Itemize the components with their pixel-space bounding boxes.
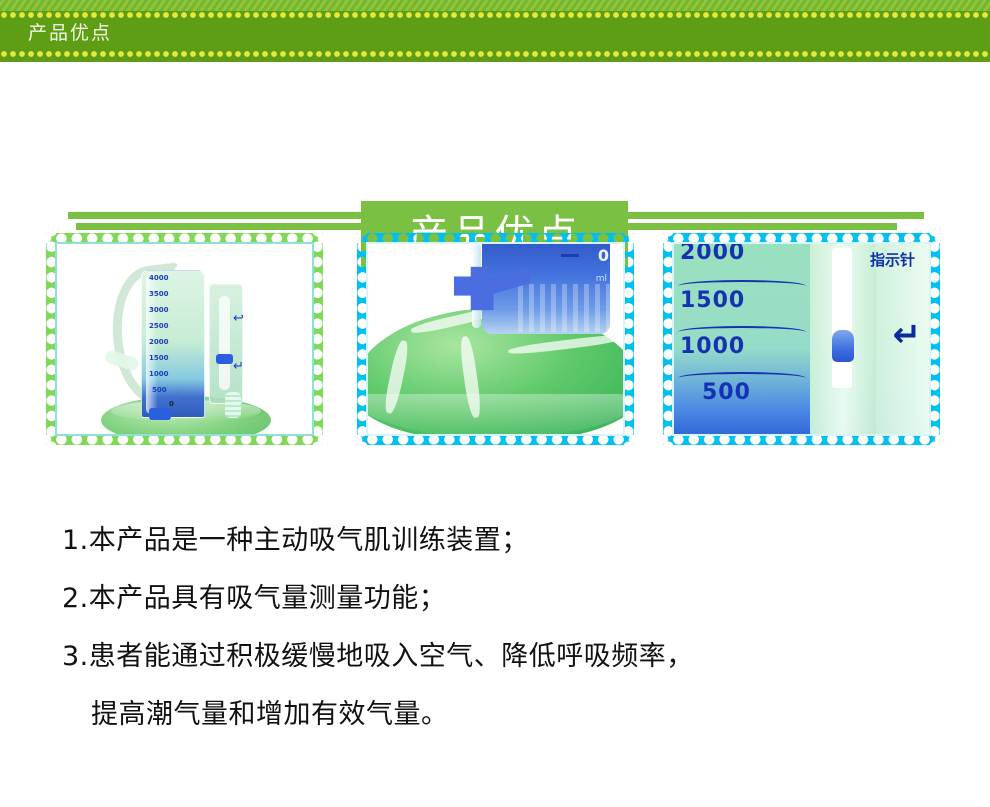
product-photo-scale-closeup: 2000 1500 1000 500 指示针 ↵ [674,244,929,434]
scale-tick: 3500 [149,290,168,298]
product-image-frame-base-closeup[interactable]: 0 ml [357,233,634,445]
advantage-item-continuation: 提高潮气量和增加有效气量。 [62,686,942,744]
arrow-down-icon: ↵ [233,362,244,372]
scale-tick: 3000 [149,306,168,314]
product-photo-base-closeup: 0 ml [368,244,623,434]
scale-tick: 1000 [149,370,168,378]
advantage-item: 3.患者能通过积极缓慢地吸入空气、降低呼吸频率， [62,628,942,686]
scale-zero-label: 0 [598,246,609,265]
top-banner: 产品优点 [0,0,990,62]
advantages-list: 1.本产品是一种主动吸气肌训练装置； 2.本产品具有吸气量测量功能； 3.患者能… [62,512,942,744]
section-heading: 产品优点 [0,95,990,185]
scale-tick: 500 [152,386,167,394]
product-image-gallery: 4000 3500 3000 2500 2000 1500 1000 500 0… [0,233,990,445]
scale-tick: 2000 [680,244,806,265]
heading-rule-right-lower [627,223,897,230]
indicator-plug [832,330,854,362]
banner-dot-row-top [0,11,990,19]
scale-tick: 1000 [680,334,806,359]
scale-tick: 1500 [149,354,168,362]
product-photo-full-product: 4000 3500 3000 2500 2000 1500 1000 500 0… [57,244,312,434]
spirometer-hose-connector [225,392,241,418]
spirometer-indicator-slot [219,296,230,390]
spirometer-valve [149,408,171,420]
scale-tick: 1500 [680,288,806,313]
product-image-frame-full-product[interactable]: 4000 3500 3000 2500 2000 1500 1000 500 0… [46,233,323,445]
scale-tick: 500 [702,380,828,405]
indicator-needle-label: 指示针 [870,250,915,270]
banner-title: 产品优点 [28,22,112,44]
arrow-up-icon: ↩ [233,314,244,324]
curved-arrow-icon: ↵ [893,320,922,350]
spirometer-indicator-plug [216,354,233,364]
heading-rule-right-upper [627,212,924,219]
scale-tick: 2000 [149,338,168,346]
product-image-frame-scale-closeup[interactable]: 2000 1500 1000 500 指示针 ↵ [663,233,940,445]
scale-tick: 0 [169,400,174,408]
unit-label: ml [596,274,607,284]
base-rim-highlight [368,394,623,434]
banner-dot-row-bottom [0,50,990,58]
advantage-item: 1.本产品是一种主动吸气肌训练装置； [62,512,942,570]
scale-dash-mark [561,254,579,257]
scale-tick: 4000 [149,274,168,282]
advantage-item: 2.本产品具有吸气量测量功能； [62,570,942,628]
cylinder-ribbing [518,284,614,332]
indicator-slot [832,248,852,388]
scale-tick: 2500 [149,322,168,330]
banner-stripe-pattern [0,0,990,11]
